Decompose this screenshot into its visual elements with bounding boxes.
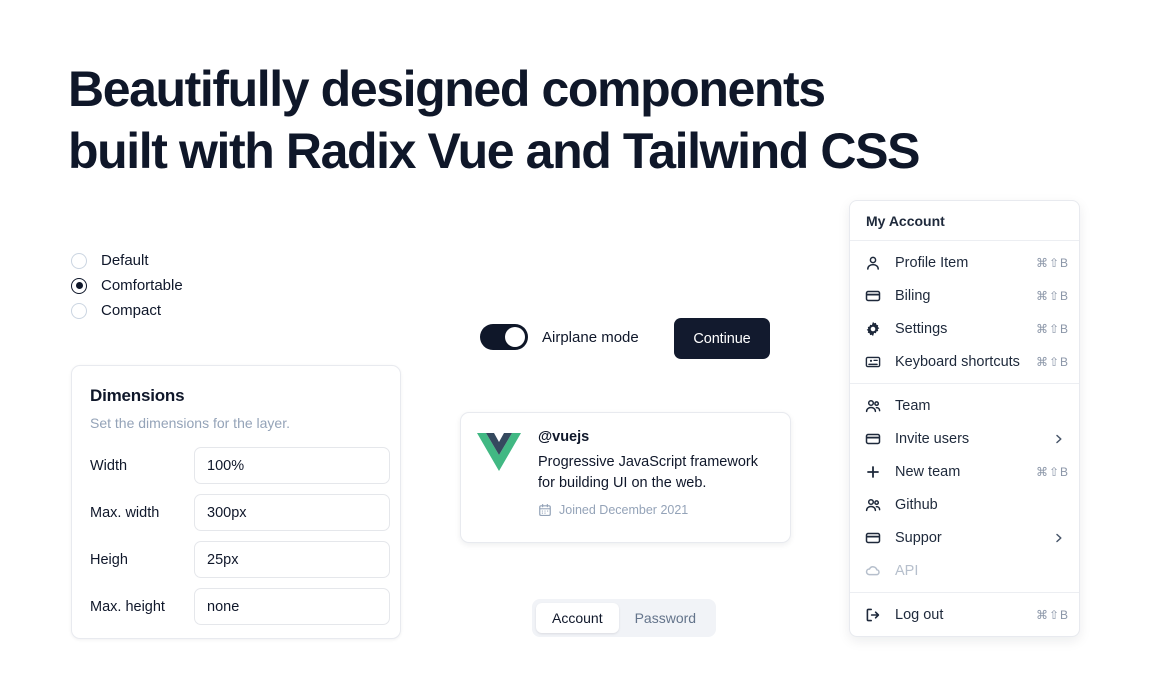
joined-row: Joined December 2021 <box>538 503 774 517</box>
users-icon <box>864 496 882 514</box>
tab-account[interactable]: Account <box>536 603 619 633</box>
menu-item-label: Github <box>895 497 1069 513</box>
max-height-input[interactable] <box>194 588 390 625</box>
radio-item-comfortable[interactable]: Comfortable <box>71 273 183 298</box>
field-label: Max. width <box>90 505 194 521</box>
menu-item-team[interactable]: Team <box>850 389 1079 422</box>
continue-button[interactable]: Continue <box>674 318 770 359</box>
menu-item-label: Keyboard shortcuts <box>895 354 1036 370</box>
vue-description: Progressive JavaScript framework for bui… <box>538 452 774 494</box>
settings-tabs: Account Password <box>532 599 716 637</box>
menu-item-shortcut: ⌘⇧B <box>1036 256 1069 270</box>
menu-item-shortcut: ⌘⇧B <box>1036 355 1069 369</box>
menu-item-shortcut: ⌘⇧B <box>1036 465 1069 479</box>
page-title: Beautifully designed components built wi… <box>68 58 1028 182</box>
field-row-height: Heigh <box>90 541 382 578</box>
page-title-line-1: Beautifully designed components <box>68 58 1028 120</box>
dimensions-card: Dimensions Set the dimensions for the la… <box>71 365 401 639</box>
menu-item-label: Suppor <box>895 530 1053 546</box>
joined-text: Joined December 2021 <box>559 503 688 517</box>
menu-item-support[interactable]: Suppor <box>850 521 1079 554</box>
chevron-right-icon <box>1053 532 1069 544</box>
field-row-max-width: Max. width <box>90 494 382 531</box>
hover-card-body: @vuejs Progressive JavaScript framework … <box>538 429 774 526</box>
menu-header-label: My Account <box>850 201 1079 240</box>
menu-item-billing[interactable]: Biling ⌘⇧B <box>850 279 1079 312</box>
vue-logo-icon <box>477 433 521 473</box>
credit-card-icon <box>864 430 882 448</box>
width-input[interactable] <box>194 447 390 484</box>
radio-item-default[interactable]: Default <box>71 248 183 273</box>
cloud-icon <box>864 562 882 580</box>
menu-item-label: Profile Item <box>895 255 1036 271</box>
calendar-icon <box>538 503 552 517</box>
menu-item-label: Invite users <box>895 431 1053 447</box>
field-label: Width <box>90 458 194 474</box>
field-label: Heigh <box>90 552 194 568</box>
menu-item-shortcut: ⌘⇧B <box>1036 608 1069 622</box>
plus-icon <box>864 463 882 481</box>
radio-label: Default <box>101 253 149 268</box>
toggle-knob <box>505 327 525 347</box>
menu-item-keyboard-shortcuts[interactable]: Keyboard shortcuts ⌘⇧B <box>850 345 1079 378</box>
menu-item-label: Settings <box>895 321 1036 337</box>
gear-icon <box>864 320 882 338</box>
dimensions-subtitle: Set the dimensions for the layer. <box>90 415 382 431</box>
density-radio-group: Default Comfortable Compact <box>71 248 183 323</box>
vue-hover-card: @vuejs Progressive JavaScript framework … <box>460 412 791 543</box>
dimensions-title: Dimensions <box>90 386 382 406</box>
menu-item-api: API <box>850 554 1079 587</box>
airplane-mode-switch-group: Airplane mode <box>480 324 639 350</box>
page-title-line-2: built with Radix Vue and Tailwind CSS <box>68 120 1028 182</box>
menu-item-invite-users[interactable]: Invite users <box>850 422 1079 455</box>
radio-item-compact[interactable]: Compact <box>71 298 183 323</box>
keyboard-icon <box>864 353 882 371</box>
chevron-right-icon <box>1053 433 1069 445</box>
menu-item-settings[interactable]: Settings ⌘⇧B <box>850 312 1079 345</box>
menu-item-github[interactable]: Github <box>850 488 1079 521</box>
menu-item-profile[interactable]: Profile Item ⌘⇧B <box>850 246 1079 279</box>
menu-item-new-team[interactable]: New team ⌘⇧B <box>850 455 1079 488</box>
radio-label: Compact <box>101 303 161 318</box>
menu-item-label: Log out <box>895 607 1036 623</box>
menu-item-label: Team <box>895 398 1069 414</box>
credit-card-icon <box>864 287 882 305</box>
menu-group-session: Log out ⌘⇧B <box>850 593 1079 636</box>
menu-item-shortcut: ⌘⇧B <box>1036 322 1069 336</box>
field-label: Max. height <box>90 599 194 615</box>
user-icon <box>864 254 882 272</box>
account-dropdown-menu: My Account Profile Item ⌘⇧B Biling <box>849 200 1080 637</box>
radio-circle-selected-icon[interactable] <box>71 278 87 294</box>
radio-circle-icon[interactable] <box>71 253 87 269</box>
menu-group-team: Team Invite users New team ⌘ <box>850 384 1079 592</box>
credit-card-icon <box>864 529 882 547</box>
height-input[interactable] <box>194 541 390 578</box>
users-icon <box>864 397 882 415</box>
radio-label: Comfortable <box>101 278 183 293</box>
radio-circle-icon[interactable] <box>71 303 87 319</box>
logout-icon <box>864 606 882 624</box>
menu-item-label: Biling <box>895 288 1036 304</box>
airplane-mode-toggle[interactable] <box>480 324 528 350</box>
menu-item-logout[interactable]: Log out ⌘⇧B <box>850 598 1079 631</box>
page-root: Beautifully designed components built wi… <box>0 0 1152 700</box>
airplane-mode-label: Airplane mode <box>542 329 639 346</box>
vue-handle: @vuejs <box>538 429 774 445</box>
menu-item-label: API <box>895 563 1069 579</box>
menu-group-account: Profile Item ⌘⇧B Biling ⌘⇧B <box>850 241 1079 383</box>
dimensions-fields: Width Max. width Heigh Max. height <box>90 447 382 625</box>
field-row-width: Width <box>90 447 382 484</box>
max-width-input[interactable] <box>194 494 390 531</box>
field-row-max-height: Max. height <box>90 588 382 625</box>
tab-password[interactable]: Password <box>619 603 712 633</box>
menu-item-shortcut: ⌘⇧B <box>1036 289 1069 303</box>
menu-item-label: New team <box>895 464 1036 480</box>
